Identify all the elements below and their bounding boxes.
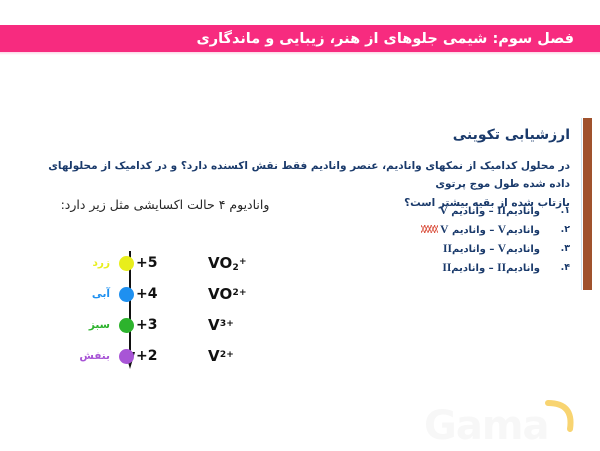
option-number: ۴. <box>540 262 570 273</box>
assessment-title: ارزشیابی تکوینی <box>453 127 570 143</box>
oxidation-intro-text: وانادیوم ۴ حالت اکسایشی مثل زیر دارد: <box>30 197 300 212</box>
slide-content: ارزشیابی تکوینی در محلول کدامیک از نمکها… <box>0 55 600 400</box>
oxidation-charge: +4 <box>136 286 170 302</box>
option-number: ١. <box>540 205 570 216</box>
option-item-4[interactable]: ۴. وانادیمII – وانادیمII <box>320 258 570 277</box>
color-swatch-purple <box>119 349 134 364</box>
roman-numeral: II <box>442 262 451 274</box>
red-scribble-mark <box>421 225 438 233</box>
watermark-arc-icon <box>544 399 578 433</box>
color-name: سبز <box>89 319 110 331</box>
option-label: وانادیمV – وانادیمII <box>443 243 540 255</box>
option-item-3[interactable]: ٣. وانادیمV – وانادیمII <box>320 239 570 258</box>
oxidation-charge: +5 <box>136 255 170 271</box>
option-label: وانادیمV – وانادیم V <box>440 224 540 236</box>
question-block-divider <box>581 118 582 290</box>
species-formula: V2+ <box>208 347 270 365</box>
oxidation-states-table: VO2+ +5 زرد VO2+ +4 آبی V3+ +3 سبز V2+ +… <box>55 248 270 370</box>
option-item-1[interactable]: ١. وانادیمII – وانادیم V <box>320 201 570 220</box>
question-line-1: در محلول کدامیک از نمکهای وانادیم، عنصر … <box>28 157 570 194</box>
color-name: آبی <box>92 288 110 300</box>
species-formula: V3+ <box>208 316 270 334</box>
roman-numeral: V <box>498 243 506 255</box>
option-label: وانادیمII – وانادیم V <box>440 205 541 217</box>
chapter-title: فصل سوم: شیمی جلوهای از هنر، زیبایی و ما… <box>0 31 582 47</box>
color-swatch-yellow <box>119 256 134 271</box>
option-label: وانادیمII – وانادیمII <box>442 262 540 274</box>
roman-numeral: II <box>443 243 452 255</box>
species-formula: VO2+ <box>208 285 270 303</box>
gama-watermark: Gama <box>424 399 584 451</box>
roman-numeral: V <box>440 205 448 217</box>
option-item-2[interactable]: ٢. وانادیمV – وانادیم V <box>320 220 570 239</box>
right-accent-bar <box>583 118 592 290</box>
oxidation-charge: +3 <box>136 317 170 333</box>
oxidation-charge: +2 <box>136 348 170 364</box>
oxidation-row: VO2+ +5 زرد <box>55 248 270 278</box>
chapter-banner: فصل سوم: شیمی جلوهای از هنر، زیبایی و ما… <box>0 25 600 52</box>
watermark-text: Gama <box>424 403 549 449</box>
roman-numeral: II <box>497 205 506 217</box>
roman-numeral: V <box>440 224 448 236</box>
color-swatch-green <box>119 318 134 333</box>
options-list: ١. وانادیمII – وانادیم V ٢. وانادیمV – و… <box>320 201 570 277</box>
color-swatch-blue <box>119 287 134 302</box>
color-name: بنفش <box>79 350 110 362</box>
color-name: زرد <box>93 257 110 269</box>
oxidation-row: VO2+ +4 آبی <box>55 279 270 309</box>
species-formula: VO2+ <box>208 254 270 273</box>
top-margin <box>0 0 600 25</box>
oxidation-row: V2+ +2 بنفش <box>55 341 270 371</box>
option-number: ٢. <box>540 224 570 235</box>
roman-numeral: V <box>498 224 506 236</box>
oxidation-row: V3+ +3 سبز <box>55 310 270 340</box>
option-number: ٣. <box>540 243 570 254</box>
roman-numeral: II <box>497 262 506 274</box>
